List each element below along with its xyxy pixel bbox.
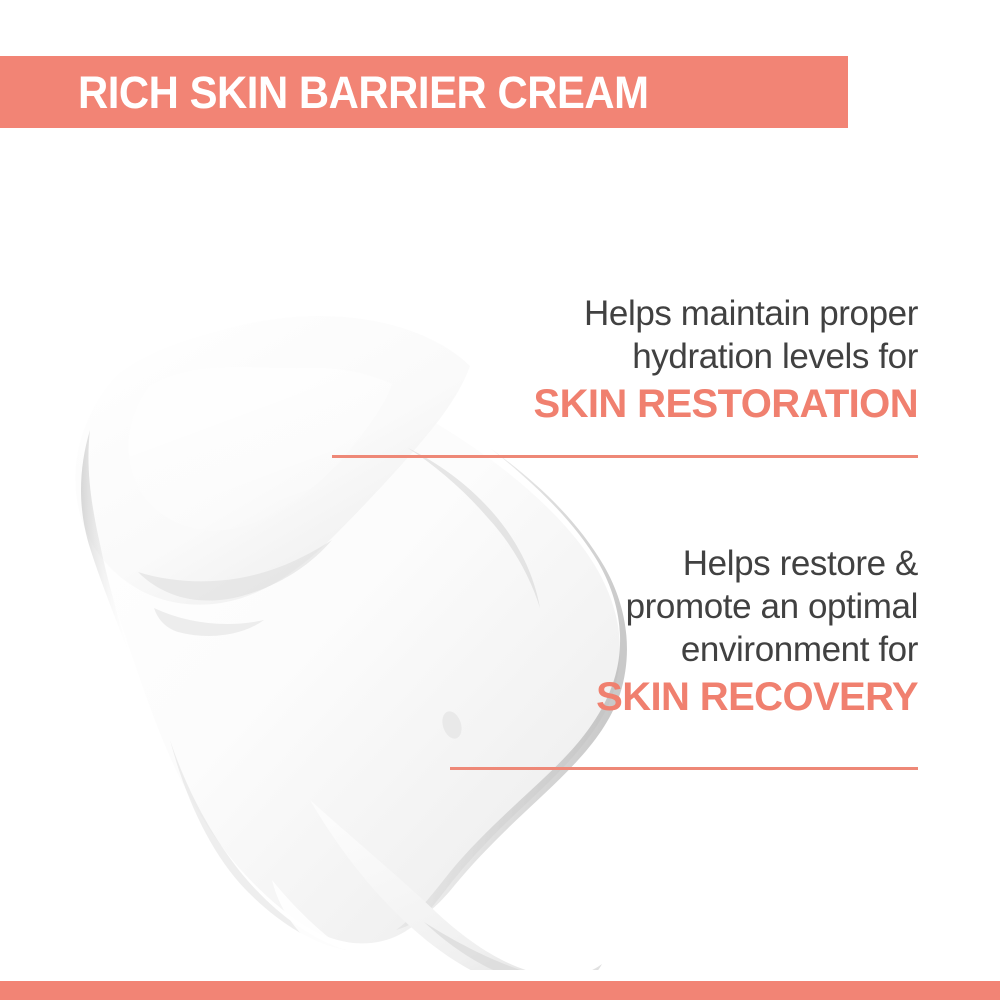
benefit-divider-2 [450, 767, 918, 770]
benefit-lead-line: promote an optimal [596, 585, 918, 628]
benefit-lead-line: hydration levels for [533, 335, 918, 378]
benefit-block-skin-restoration: Helps maintain proper hydration levels f… [533, 292, 918, 428]
footer-bar [0, 981, 1000, 1000]
page-title: RICH SKIN BARRIER CREAM [78, 70, 649, 115]
benefit-lead-line: environment for [596, 628, 918, 671]
benefit-block-skin-recovery: Helps restore & promote an optimal envir… [596, 542, 918, 721]
header-banner: RICH SKIN BARRIER CREAM [0, 56, 848, 128]
product-benefits-graphic: RICH SKIN BARRIER CREAM [0, 0, 1000, 1000]
benefit-headline: SKIN RESTORATION [533, 380, 918, 428]
benefit-divider-1 [332, 455, 918, 458]
benefit-lead-line: Helps maintain proper [533, 292, 918, 335]
benefit-lead-line: Helps restore & [596, 542, 918, 585]
benefit-headline: SKIN RECOVERY [596, 673, 918, 721]
